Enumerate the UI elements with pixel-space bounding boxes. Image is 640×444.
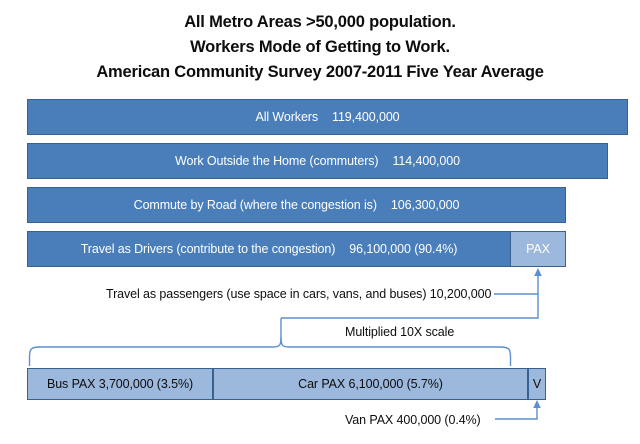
title-line-3: American Community Survey 2007-2011 Five…	[0, 60, 640, 85]
funnel-segment-pax: PAX	[511, 231, 566, 267]
pax-segment-car: Car PAX 6,100,000 (5.7%)	[213, 368, 528, 400]
funnel-bar-work-outside-label: Work Outside the Home (commuters)114,400…	[175, 154, 460, 168]
funnel-bar-drivers-label: Travel as Drivers (contribute to the con…	[81, 242, 458, 256]
funnel-bar-all-workers: All Workers119,400,000	[27, 99, 628, 135]
title-line-1: All Metro Areas >50,000 population.	[0, 10, 640, 35]
annotation-passengers: Travel as passengers (use space in cars,…	[106, 287, 491, 302]
annotation-multiplied-scale: Multiplied 10X scale	[345, 325, 454, 340]
pax-segment-van-label: V	[533, 377, 541, 391]
funnel-bar-work-outside: Work Outside the Home (commuters)114,400…	[27, 143, 608, 179]
funnel-bar-all-workers-label: All Workers119,400,000	[255, 110, 399, 124]
funnel-bar-commute-road-label: Commute by Road (where the congestion is…	[134, 198, 460, 212]
funnel-bar-drivers-row: Travel as Drivers (contribute to the con…	[27, 231, 566, 267]
pax-segment-bus: Bus PAX 3,700,000 (3.5%)	[27, 368, 213, 400]
pax-segment-van: V	[528, 368, 546, 400]
title-line-2: Workers Mode of Getting to Work.	[0, 35, 640, 60]
funnel-segment-pax-label: PAX	[526, 242, 550, 256]
annotation-van-pax: Van PAX 400,000 (0.4%)	[345, 413, 481, 428]
page-title: All Metro Areas >50,000 population. Work…	[0, 10, 640, 85]
funnel-bar-commute-road: Commute by Road (where the congestion is…	[27, 187, 566, 223]
pax-segment-car-label: Car PAX 6,100,000 (5.7%)	[298, 377, 443, 391]
pax-segment-bus-label: Bus PAX 3,700,000 (3.5%)	[47, 377, 193, 391]
funnel-bar-drivers: Travel as Drivers (contribute to the con…	[27, 231, 511, 267]
van-callout-connector	[495, 400, 541, 419]
pax-breakdown-bar: Bus PAX 3,700,000 (3.5%) Car PAX 6,100,0…	[27, 368, 546, 400]
